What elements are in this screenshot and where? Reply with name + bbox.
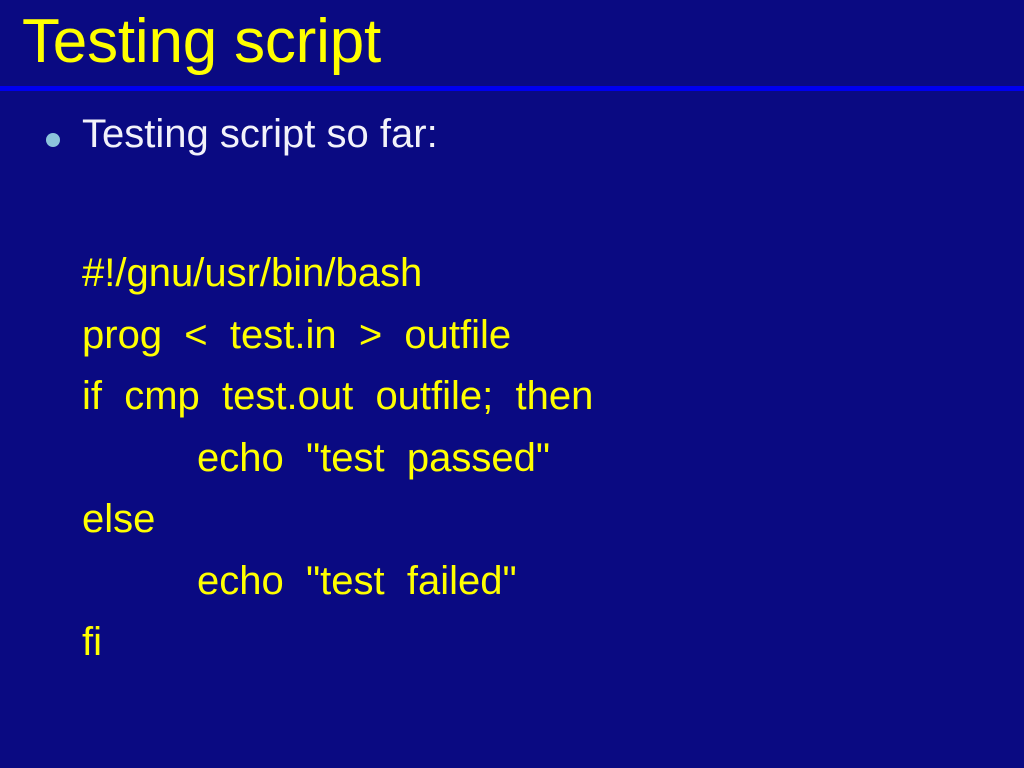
code-listing: #!/gnu/usr/bin/bash prog < test.in > out… — [82, 243, 982, 674]
code-line: #!/gnu/usr/bin/bash — [82, 243, 982, 305]
slide-body: Testing script so far: #!/gnu/usr/bin/ba… — [0, 91, 1024, 768]
code-line: echo "test failed" — [82, 551, 982, 613]
list-item: Testing script so far: — [40, 105, 980, 155]
page-title: Testing script — [22, 6, 381, 78]
code-line: fi — [82, 612, 982, 674]
bullet-dot-icon — [46, 133, 60, 147]
list-item-label: Testing script so far: — [82, 109, 438, 159]
code-line: prog < test.in > outfile — [82, 305, 982, 367]
code-line: echo "test passed" — [82, 428, 982, 490]
slide: Testing script Testing script so far: #!… — [0, 0, 1024, 768]
code-line: else — [82, 489, 982, 551]
code-line: if cmp test.out outfile; then — [82, 366, 982, 428]
